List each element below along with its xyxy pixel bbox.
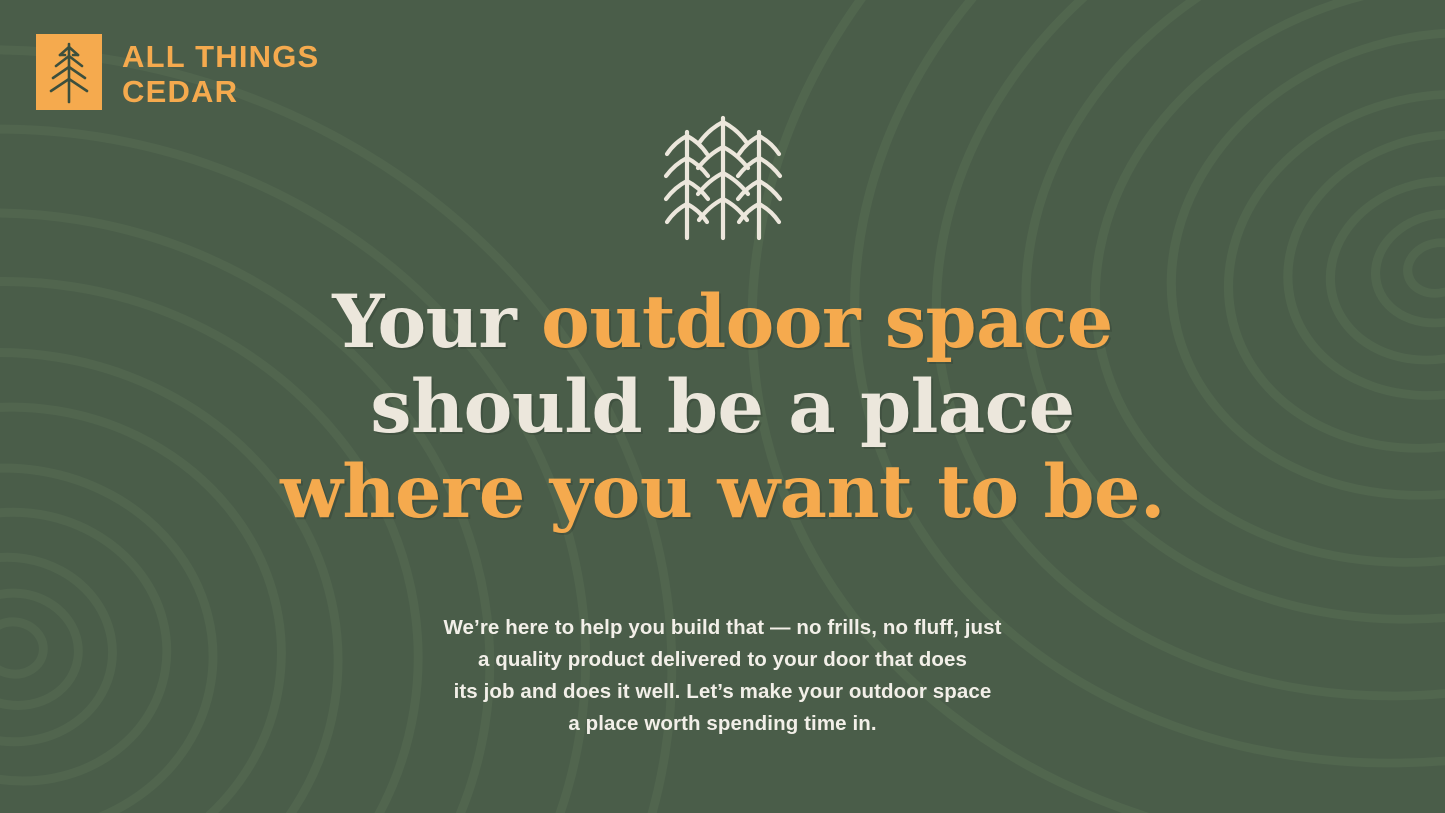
headline-line-1-plain: Your xyxy=(332,279,541,365)
body-line-4: a place worth spending time in. xyxy=(443,708,1001,740)
headline-line-2: should be a place xyxy=(223,365,1223,450)
three-pine-trees-icon xyxy=(657,112,789,244)
hero-body-copy: We’re here to help you build that — no f… xyxy=(443,612,1001,740)
headline-line-1-accent: outdoor space xyxy=(541,279,1113,365)
headline-line-1: Your outdoor space xyxy=(223,280,1223,365)
page-title: Your outdoor space should be a place whe… xyxy=(223,280,1223,535)
body-line-3: its job and does it well. Let’s make you… xyxy=(443,676,1001,708)
promo-banner: ALL THINGS CEDAR xyxy=(0,0,1445,813)
body-line-1: We’re here to help you build that — no f… xyxy=(443,612,1001,644)
body-line-2: a quality product delivered to your door… xyxy=(443,644,1001,676)
hero-section: Your outdoor space should be a place whe… xyxy=(0,0,1445,813)
headline-line-3: where you want to be. xyxy=(223,450,1223,535)
